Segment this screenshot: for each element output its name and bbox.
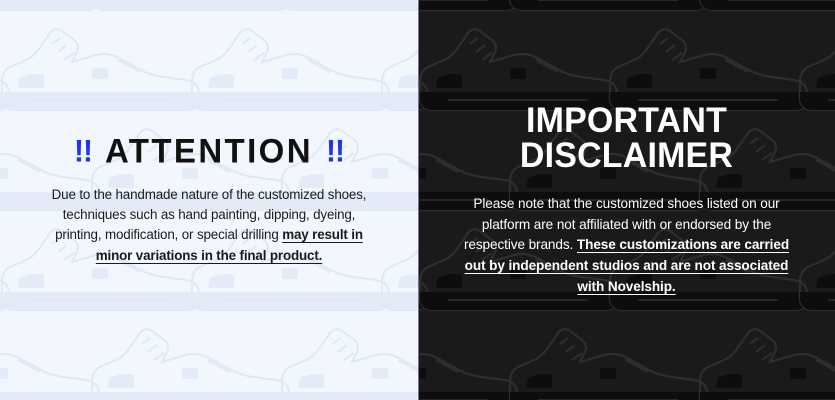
attention-heading: !!ATTENTION!! xyxy=(30,133,388,169)
disclaimer-heading-line1: IMPORTANT xyxy=(453,103,799,139)
disclaimer-body: Please note that the customized shoes li… xyxy=(462,194,792,297)
disclaimer-banner: !!ATTENTION!! Due to the handmade nature… xyxy=(0,0,835,400)
attention-content: !!ATTENTION!! Due to the handmade nature… xyxy=(0,134,418,266)
disclaimer-heading: IMPORTANT DISCLAIMER xyxy=(453,103,799,174)
exclamation-right-icon: !! xyxy=(326,135,344,168)
disclaimer-panel: IMPORTANT DISCLAIMER Please note that th… xyxy=(418,0,835,400)
attention-panel: !!ATTENTION!! Due to the handmade nature… xyxy=(0,0,418,400)
attention-heading-text: ATTENTION xyxy=(105,131,313,169)
panel-divider xyxy=(418,0,419,400)
disclaimer-content: IMPORTANT DISCLAIMER Please note that th… xyxy=(418,103,835,298)
attention-body: Due to the handmade nature of the custom… xyxy=(49,185,369,267)
exclamation-left-icon: !! xyxy=(74,135,92,168)
disclaimer-heading-line2: DISCLAIMER xyxy=(453,138,799,174)
